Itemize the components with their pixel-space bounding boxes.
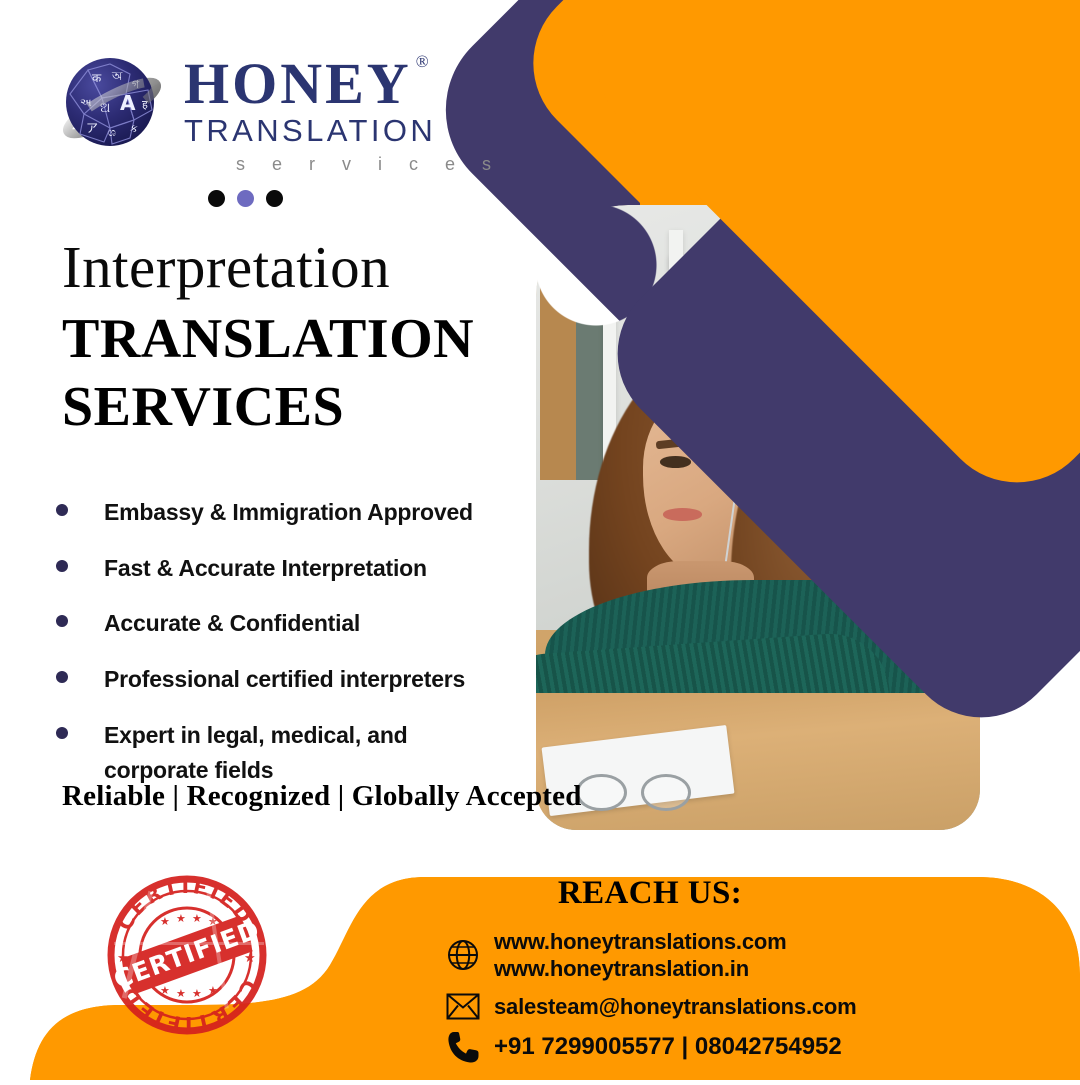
feature-item: Professional certified interpreters [56,662,536,698]
logo-name-primary: HONEY® [184,56,412,111]
phone-numbers[interactable]: +91 7299005577 | 08042754952 [494,1032,842,1062]
page-title-line-1: TRANSLATION [62,305,474,373]
website-link-1[interactable]: www.honeytranslations.com [494,928,786,955]
feature-label: Accurate & Confidential [104,606,360,642]
feature-label: Expert in legal, medical, and corporate … [104,718,444,789]
website-link-2[interactable]: www.honeytranslation.in [494,955,786,982]
email-link[interactable]: salesteam@honeytranslations.com [494,993,857,1020]
decor-dot-1 [208,190,225,207]
headline-script: Interpretation [62,238,390,297]
feature-item: Fast & Accurate Interpretation [56,551,536,587]
svg-text:A: A [120,91,136,115]
bullet-dot-icon [56,504,68,516]
feature-item: Embassy & Immigration Approved [56,495,536,531]
logo-name-secondary: TRANSLATION [184,113,502,149]
page-title: TRANSLATIONSERVICES [62,305,474,442]
feature-label: Fast & Accurate Interpretation [104,551,427,587]
logo-honey-text: HONEY [184,51,412,116]
svg-text:ශ: ශ [108,126,116,139]
svg-text:ア: ア [86,121,98,135]
svg-text:★: ★ [176,913,186,925]
bullet-dot-icon [56,671,68,683]
page-title-line-2: SERVICES [62,373,474,441]
feature-item: Expert in legal, medical, and corporate … [56,718,536,789]
svg-text:ક: ક [130,122,138,135]
envelope-icon [440,993,486,1020]
contact-row-email[interactable]: salesteam@honeytranslations.com [492,993,1080,1020]
svg-text:★: ★ [208,985,218,997]
globe-icon [440,938,486,972]
registered-mark: ® [416,54,432,70]
bullet-dot-icon [56,727,68,739]
decor-dot-3 [266,190,283,207]
feature-label: Professional certified interpreters [104,662,465,698]
svg-text:★: ★ [192,988,202,1000]
certified-stamp-icon: CERTIFIED CERTIFIED ★ ★ CERTIFIED ★★★★ ★… [104,872,270,1038]
svg-text:★: ★ [160,916,170,928]
website-links[interactable]: www.honeytranslations.com www.honeytrans… [494,928,786,983]
svg-text:অ: অ [111,69,123,83]
decor-dots [208,190,283,207]
bullet-dot-icon [56,560,68,572]
feature-label: Embassy & Immigration Approved [104,495,473,531]
svg-text:★: ★ [176,988,186,1000]
svg-text:★: ★ [192,913,202,925]
contact-row-phone[interactable]: +91 7299005577 | 08042754952 [492,1030,1080,1064]
phone-icon [440,1030,486,1064]
contact-row-website[interactable]: www.honeytranslations.com www.honeytrans… [492,928,1080,983]
logo-name-tertiary: s e r v i c e s [184,154,502,175]
svg-text:क: क [92,71,102,85]
tagline: Reliable | Recognized | Globally Accepte… [62,780,582,813]
decor-dot-2 [237,190,254,207]
globe-languages-icon: क অ গ અ ଅ A ह ア ශ ક [56,50,168,162]
bullet-dot-icon [56,615,68,627]
svg-text:★: ★ [160,985,170,997]
feature-item: Accurate & Confidential [56,606,536,642]
brand-logo[interactable]: क অ গ અ ଅ A ह ア ශ ક HONEY® TRANSLATION s… [56,50,502,175]
features-list: Embassy & Immigration ApprovedFast & Acc… [56,495,536,809]
